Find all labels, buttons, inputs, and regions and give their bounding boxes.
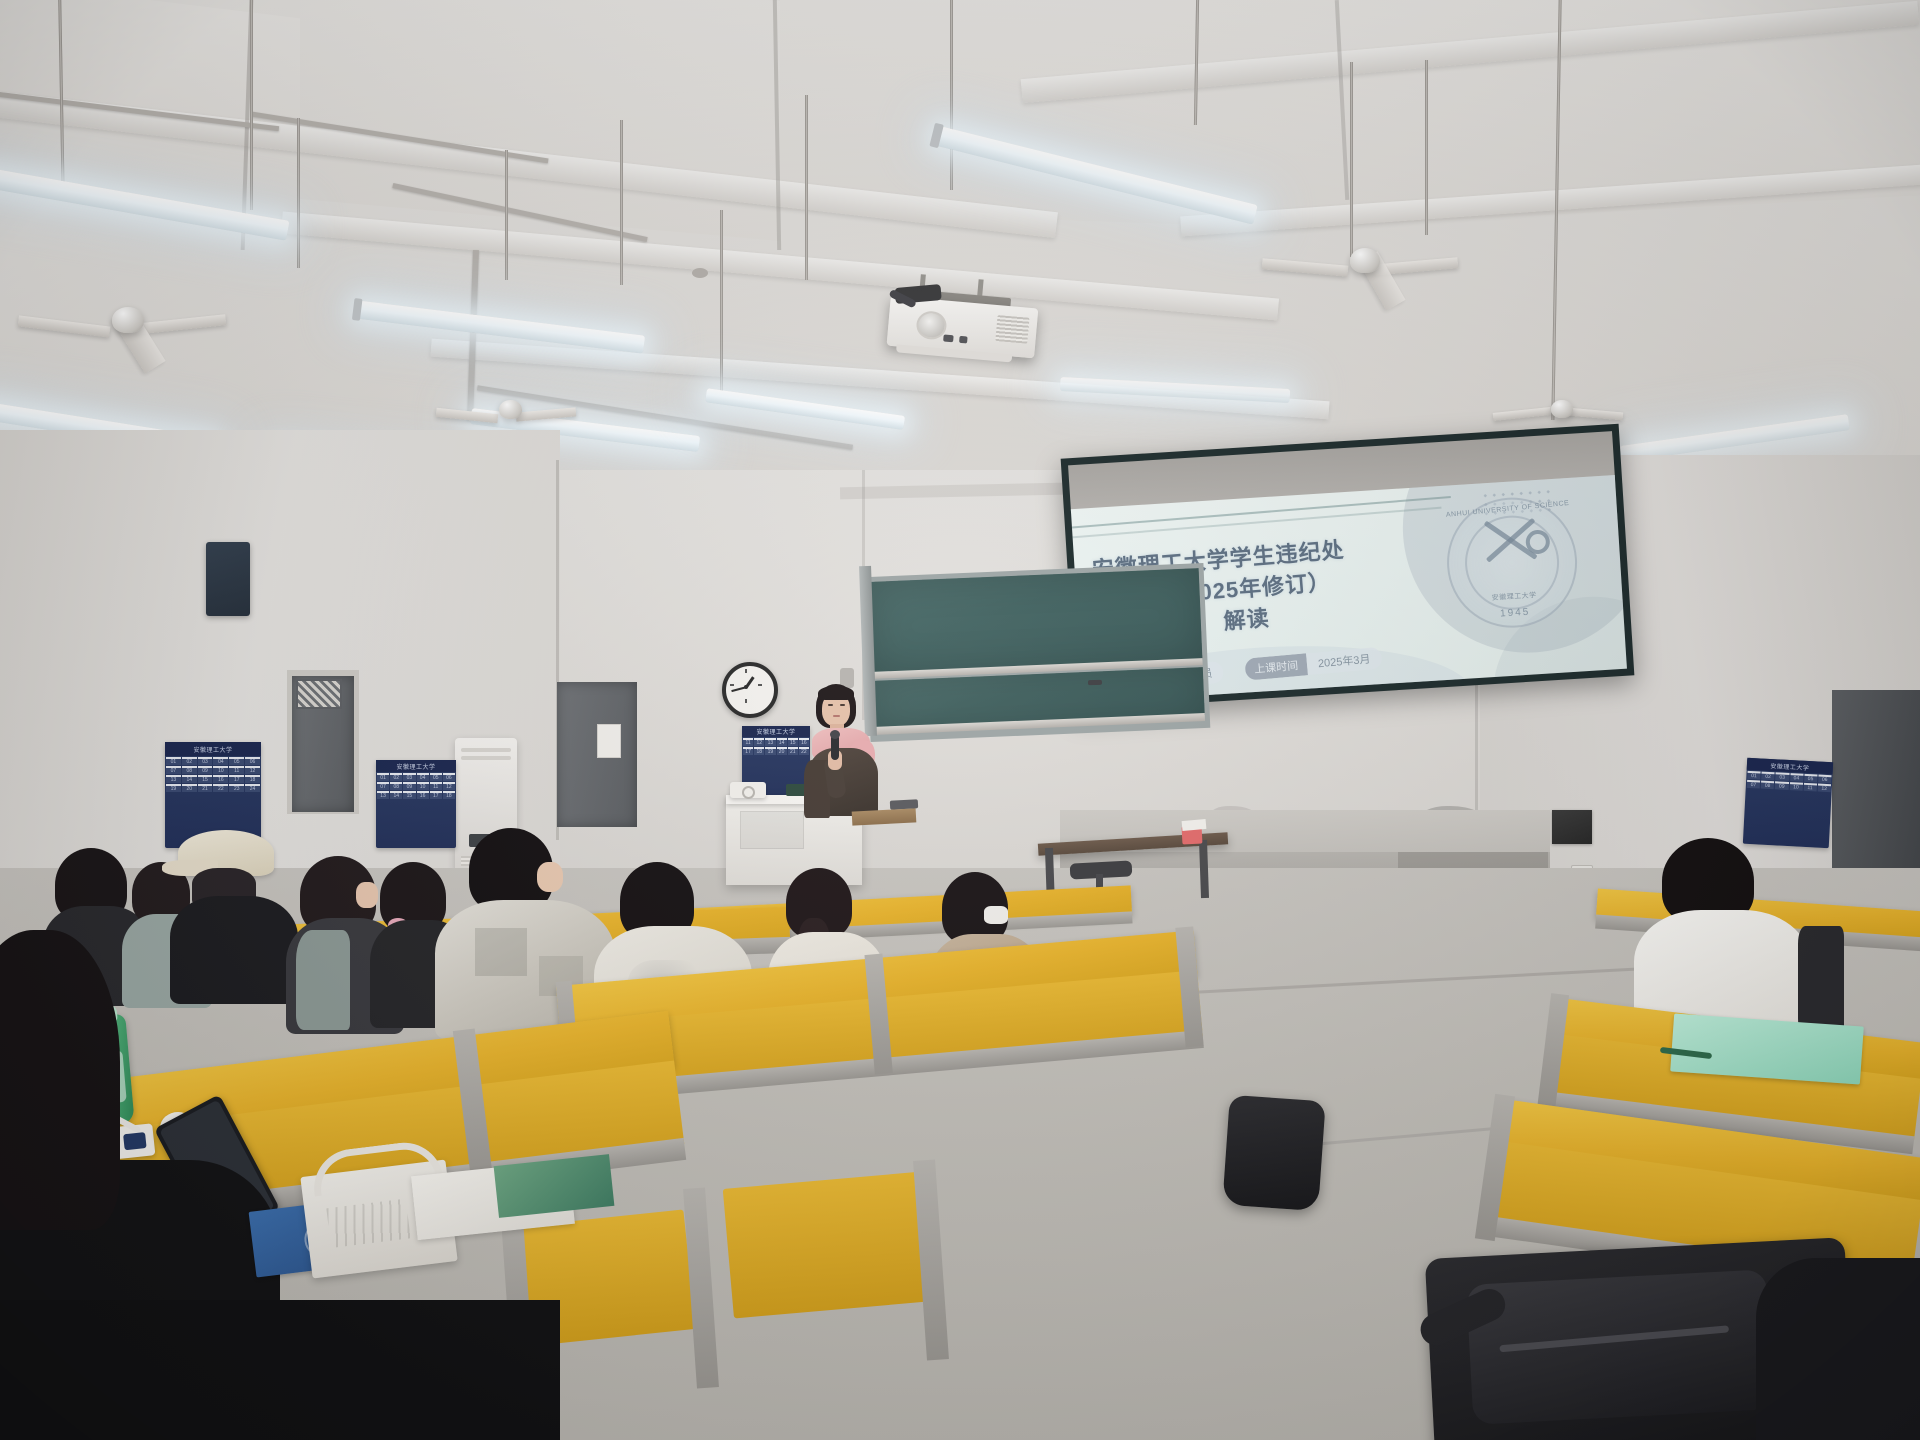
pocket-slot[interactable]: 08 [390, 782, 402, 790]
pocket-slot[interactable]: 10 [1789, 782, 1803, 791]
foreground-person-right [1756, 1258, 1920, 1440]
pocket-slot[interactable]: 07 [377, 782, 389, 790]
pocket-slot[interactable]: 23 [229, 784, 244, 792]
face-mask-icon [984, 906, 1008, 924]
pocket-slot[interactable]: 22 [213, 784, 228, 792]
wall-mounted-speaker [206, 542, 250, 616]
classroom-door-left[interactable] [292, 676, 354, 812]
pocket-slot[interactable]: 09 [403, 782, 415, 790]
chalk-piece [1088, 680, 1102, 685]
pocket-slot[interactable]: 18 [754, 747, 764, 755]
pocket-slot[interactable]: 18 [443, 791, 455, 799]
pocket-slot[interactable]: 07 [1747, 780, 1761, 789]
pocket-slot[interactable]: 19 [765, 747, 775, 755]
classroom-photo-scene: 安徽理工大学学生违纪处 分办法（2025年修订） 解读 主讲人 辅导员 上课时间… [0, 0, 1920, 1440]
desk-item-paper [1182, 819, 1207, 831]
pocket-slot[interactable]: 11 [229, 766, 244, 774]
phone-pocket-board-right: 安徽理工大学 010203040506070809101112 [1743, 758, 1833, 848]
pocket-slot[interactable]: 03 [198, 757, 213, 765]
pocket-slot[interactable]: 20 [777, 747, 787, 755]
pocket-slot[interactable]: 17 [229, 775, 244, 783]
pocket-slot[interactable]: 02 [1761, 772, 1775, 781]
pocket-slot[interactable]: 01 [377, 773, 389, 781]
pocket-slot[interactable]: 03 [1775, 772, 1789, 781]
pocket-slot[interactable]: 17 [743, 747, 753, 755]
pocket-slot[interactable]: 11 [743, 738, 753, 746]
pocket-slot[interactable]: 06 [443, 773, 455, 781]
foreground-shadow [0, 1300, 560, 1440]
pocket-slot[interactable]: 24 [245, 784, 260, 792]
pocket-slot[interactable]: 12 [754, 738, 764, 746]
pocket-slot[interactable]: 09 [198, 766, 213, 774]
pocket-slot[interactable]: 14 [777, 738, 787, 746]
pocket-slot[interactable]: 13 [765, 738, 775, 746]
pocket-slot[interactable]: 08 [182, 766, 197, 774]
pocket-slot[interactable]: 04 [417, 773, 429, 781]
pocket-slot[interactable]: 08 [1761, 781, 1775, 790]
pocket-board-header: 安徽理工大学 [376, 760, 456, 772]
door-notice [597, 724, 621, 758]
pocket-slot[interactable]: 05 [430, 773, 442, 781]
pocket-slot[interactable]: 06 [1818, 775, 1832, 784]
pocket-slot[interactable]: 04 [1790, 773, 1804, 782]
pocket-slot-grid: 010203040506070809101112 [1746, 770, 1833, 793]
pocket-slot[interactable]: 21 [198, 784, 213, 792]
presenter [790, 684, 900, 814]
pocket-slot[interactable]: 17 [430, 791, 442, 799]
phone-pocket-board-center: 安徽理工大学 010203040506070809101112131415161… [376, 760, 456, 848]
pocket-slot[interactable]: 20 [182, 784, 197, 792]
pocket-slot[interactable]: 11 [1803, 783, 1817, 792]
pocket-slot[interactable]: 19 [166, 784, 181, 792]
pocket-slot[interactable]: 02 [390, 773, 402, 781]
pocket-slot-grid: 0102030405060708091011121314151617181920… [165, 756, 261, 793]
pocket-slot[interactable]: 12 [443, 782, 455, 790]
pocket-slot[interactable]: 12 [245, 766, 260, 774]
pocket-slot[interactable]: 01 [166, 757, 181, 765]
hanging-bag [1222, 1095, 1325, 1211]
pocket-slot[interactable]: 10 [213, 766, 228, 774]
classroom-door-center[interactable] [557, 682, 637, 827]
pocket-slot[interactable]: 02 [182, 757, 197, 765]
pocket-slot[interactable]: 18 [245, 775, 260, 783]
ceiling-projector [885, 294, 1038, 371]
podium-control-device[interactable] [730, 782, 766, 798]
pocket-slot[interactable]: 14 [182, 775, 197, 783]
pocket-board-header: 安徽理工大学 [165, 742, 261, 756]
pocket-slot[interactable]: 04 [213, 757, 228, 765]
pocket-slot[interactable]: 10 [417, 782, 429, 790]
chalkboard [869, 568, 1205, 737]
pocket-slot[interactable]: 11 [430, 782, 442, 790]
pocket-slot[interactable]: 01 [1747, 771, 1761, 780]
pocket-slot[interactable]: 16 [417, 791, 429, 799]
pocket-slot[interactable]: 09 [1775, 781, 1789, 790]
classroom-door-back-right[interactable] [1832, 690, 1920, 870]
seat-back [723, 1172, 934, 1319]
pocket-slot[interactable]: 05 [229, 757, 244, 765]
pocket-slot[interactable]: 15 [198, 775, 213, 783]
pocket-slot[interactable]: 05 [1804, 774, 1818, 783]
door-grille [296, 679, 342, 709]
wall-poster [1552, 810, 1592, 844]
pocket-slot[interactable]: 07 [166, 766, 181, 774]
smoke-detector-icon [692, 268, 708, 278]
pocket-slot-grid: 010203040506070809101112131415161718 [376, 772, 456, 800]
pocket-slot[interactable]: 14 [390, 791, 402, 799]
pocket-slot[interactable]: 06 [245, 757, 260, 765]
chalkboard-panel-upper [869, 568, 1203, 674]
wall-clock [722, 662, 778, 718]
pocket-slot[interactable]: 16 [213, 775, 228, 783]
pocket-slot[interactable]: 13 [166, 775, 181, 783]
pocket-slot[interactable]: 15 [403, 791, 415, 799]
foreground-person [0, 930, 150, 1270]
pocket-slot[interactable]: 03 [403, 773, 415, 781]
pocket-slot[interactable]: 12 [1817, 784, 1831, 793]
pocket-slot[interactable]: 13 [377, 791, 389, 799]
